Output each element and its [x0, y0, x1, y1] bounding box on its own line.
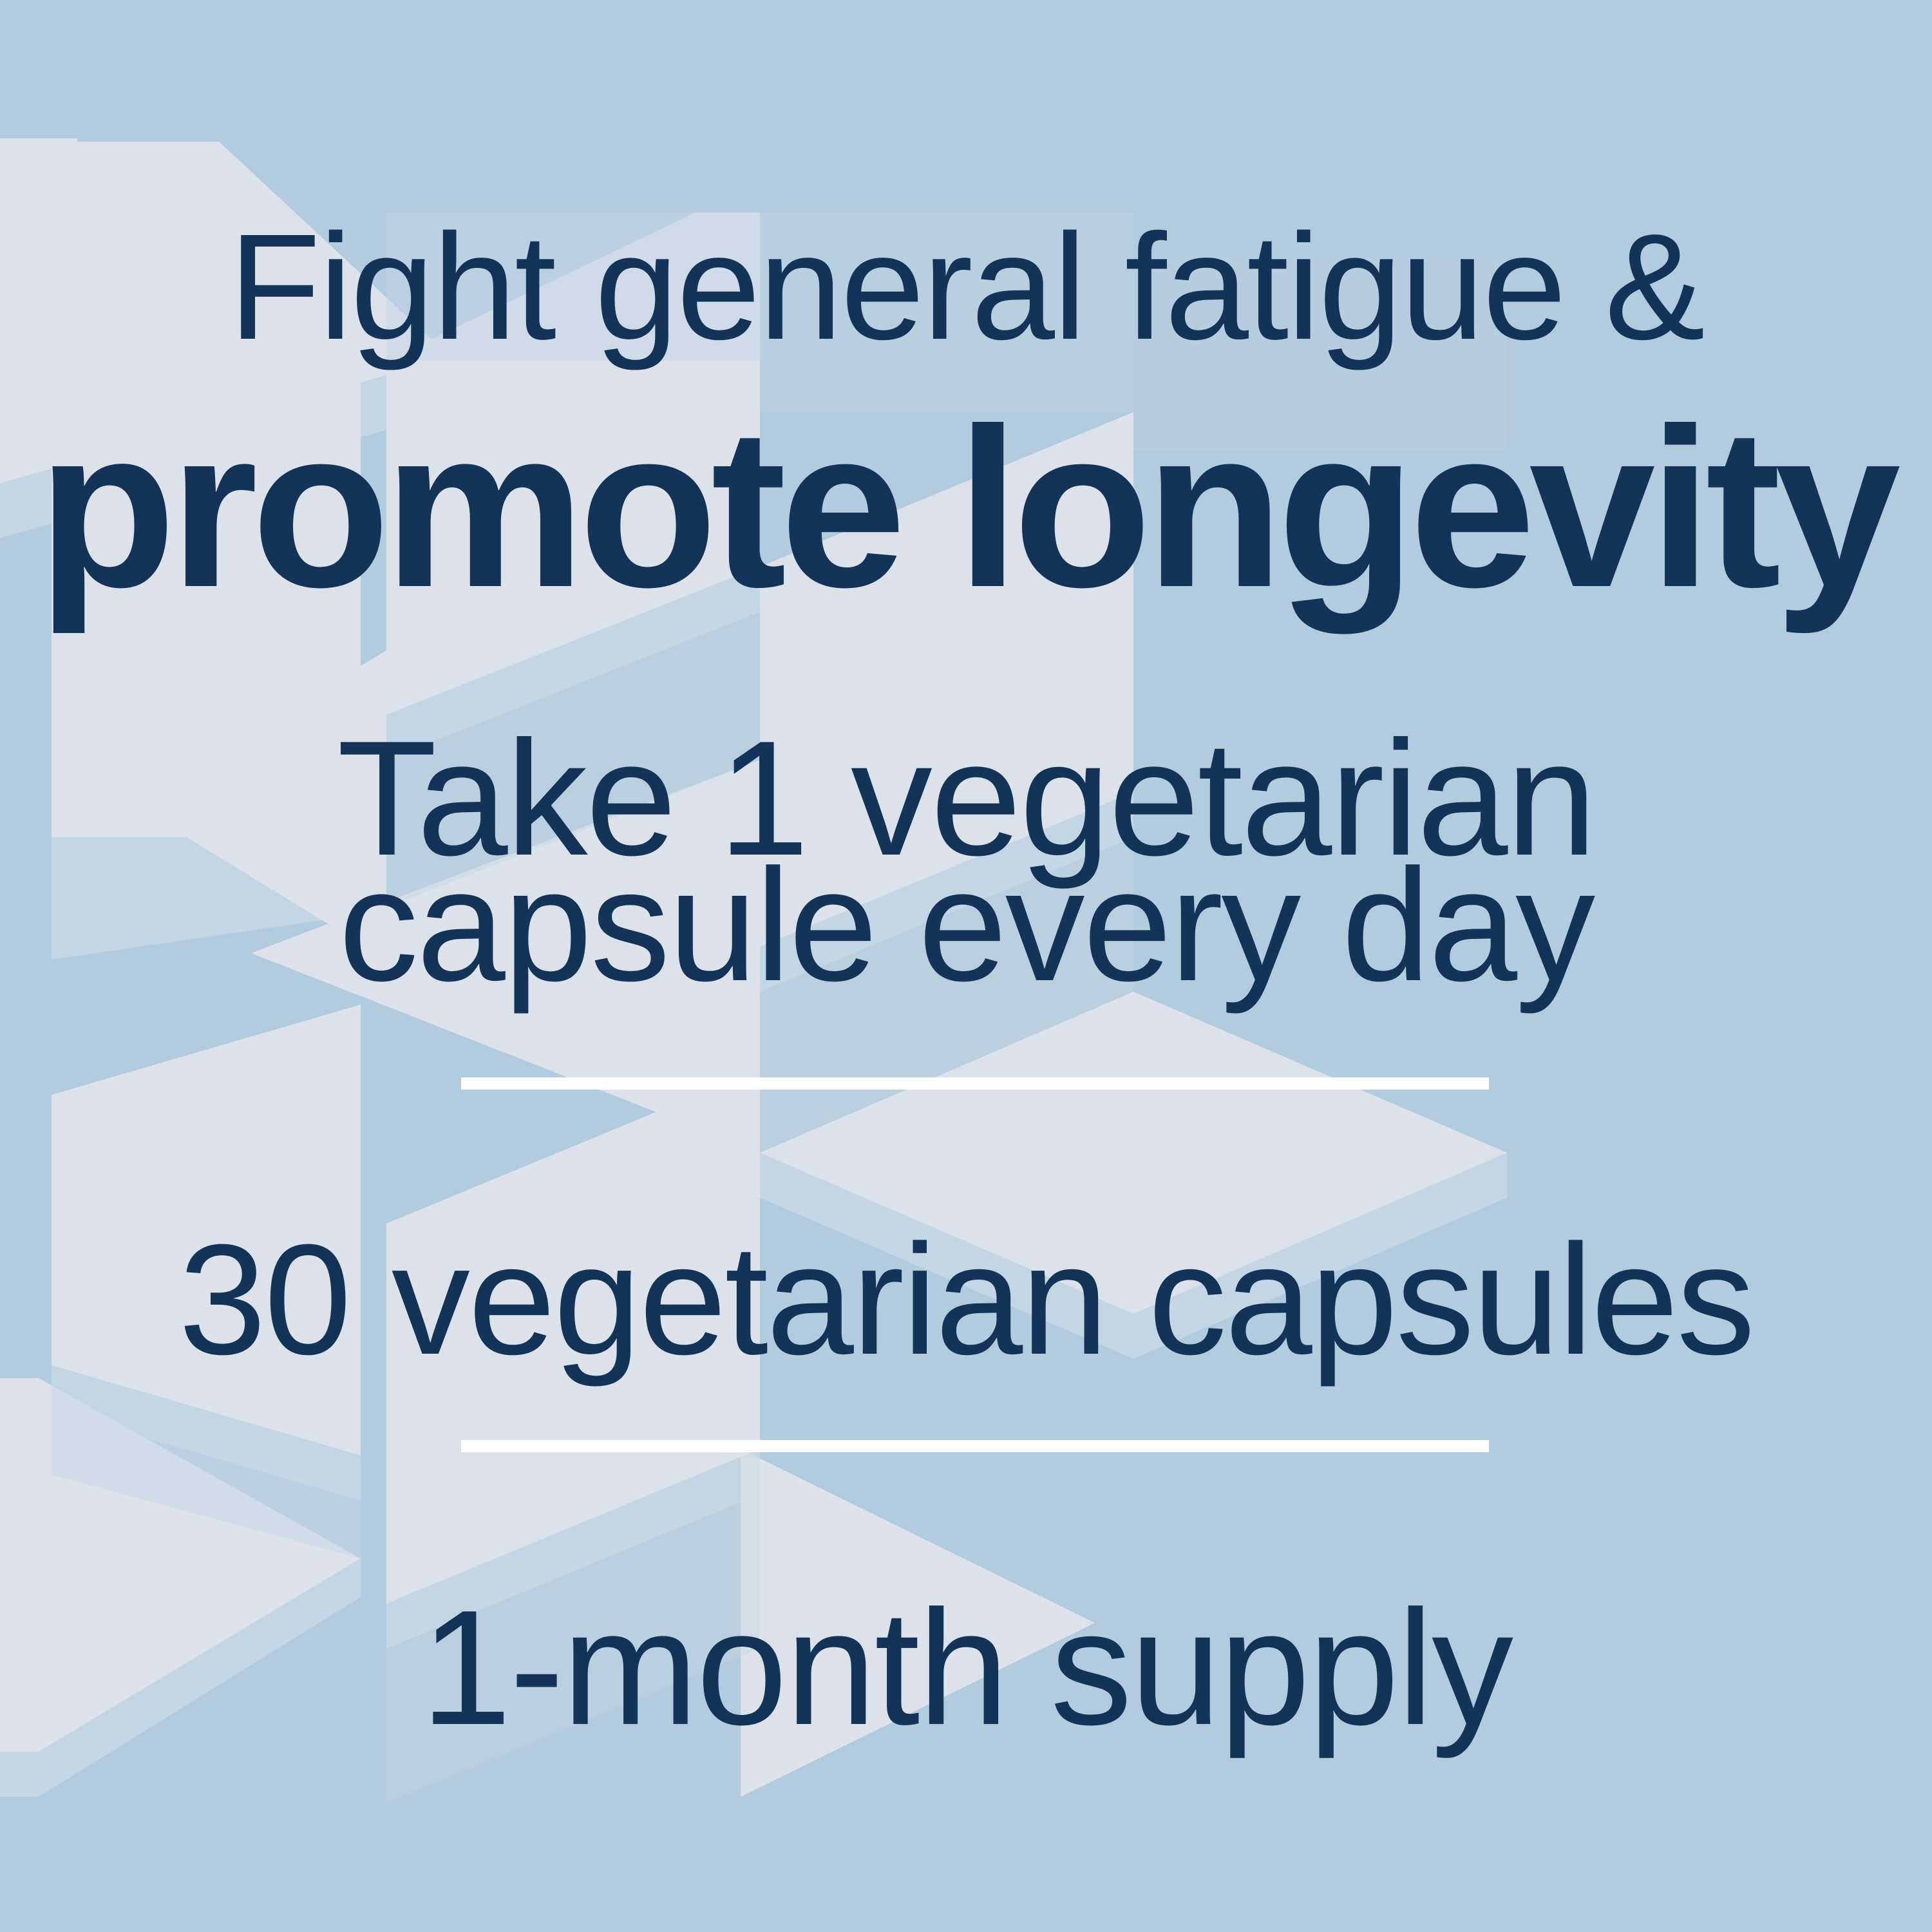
headline-line-1: Fight general fatigue &: [0, 211, 1932, 362]
product-benefit-card: Fight general fatigue & promote longevit…: [0, 0, 1932, 1932]
dosage-line-2: capsule every day: [0, 845, 1932, 1005]
content-layer: Fight general fatigue & promote longevit…: [0, 0, 1932, 1932]
divider-top: [461, 1077, 1489, 1090]
divider-bottom: [461, 1440, 1489, 1452]
supply-duration-text: 1-month supply: [0, 1586, 1932, 1749]
headline-line-2: promote longevity: [0, 394, 1932, 621]
capsule-count-text: 30 vegetarian capsules: [0, 1221, 1932, 1378]
